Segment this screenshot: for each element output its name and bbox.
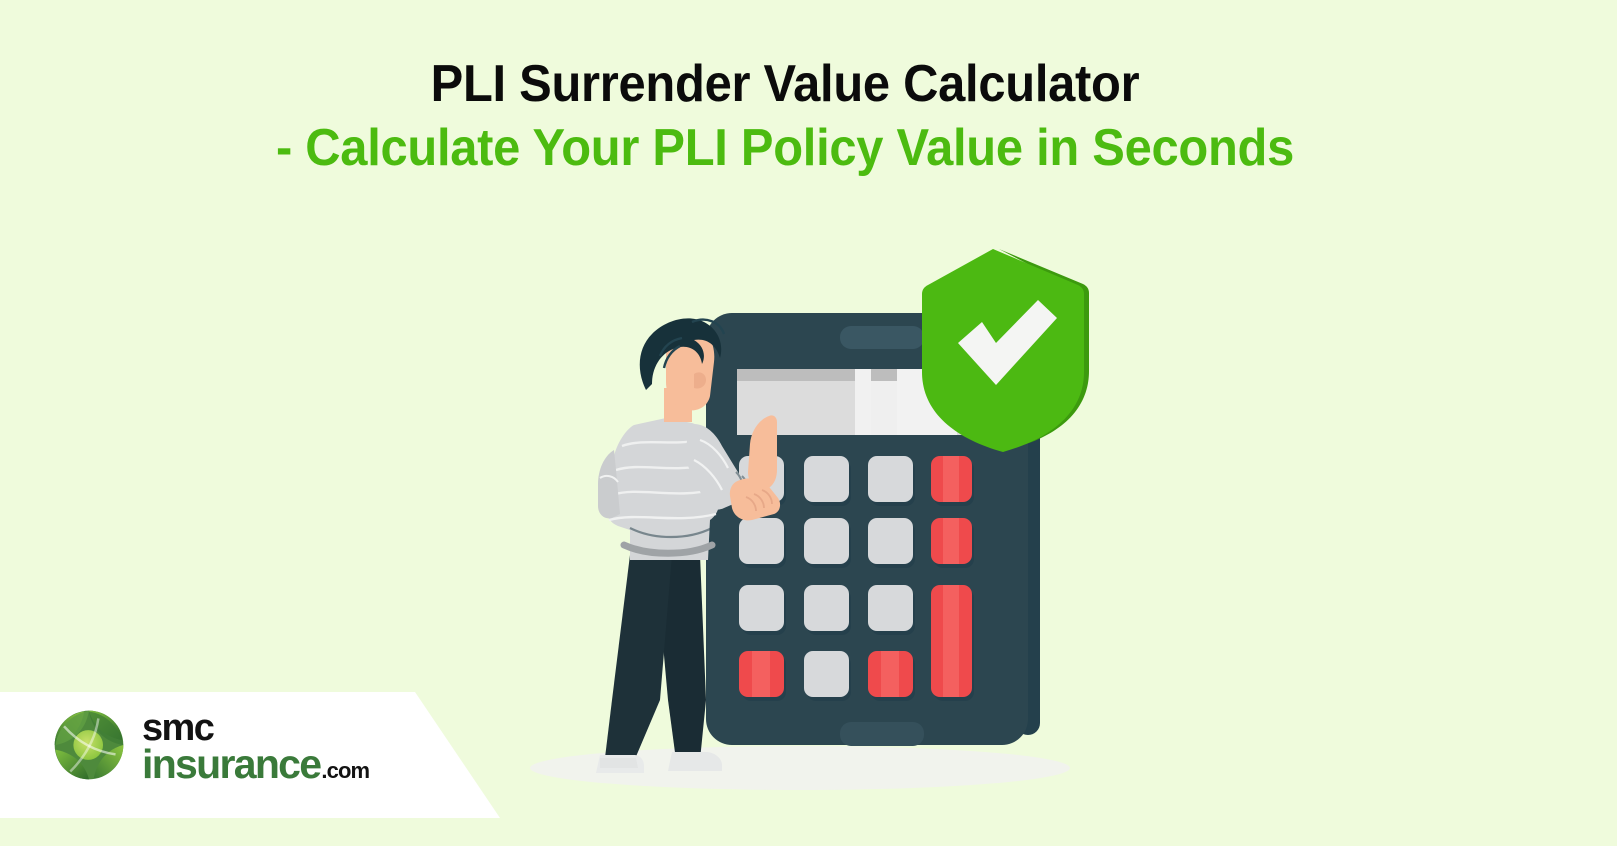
calculator-key (804, 456, 849, 502)
headline-primary: PLI Surrender Value Calculator (47, 58, 1523, 110)
person-pointing-finger (748, 415, 777, 490)
calculator-key-accent (931, 518, 972, 564)
logo-wordmark: smc insurance .com (142, 708, 369, 782)
floor-shadow (530, 746, 1070, 790)
calculator-key-accent (931, 456, 972, 502)
calculator-bottom-notch (840, 722, 924, 746)
person-ear (694, 372, 706, 388)
calculator-body (706, 313, 1028, 745)
calculator-key-accent (739, 651, 784, 697)
calculator-key (739, 518, 784, 564)
calculator-key-accent (868, 651, 913, 697)
calculator-key (868, 518, 913, 564)
logo-dotcom-text: .com (321, 761, 369, 780)
logo-insurance-text: insurance (142, 746, 320, 782)
logo-lockup[interactable]: smc insurance .com (50, 706, 369, 784)
calculator-key (804, 651, 849, 697)
calculator-top-notch (840, 326, 924, 349)
calculator-illustration (706, 313, 1040, 746)
person-neck (664, 388, 692, 422)
calculator-key (739, 456, 784, 502)
calculator-keypad (739, 456, 974, 701)
brand-logo-banner[interactable]: smc insurance .com (0, 692, 510, 818)
person-sweater-hem (624, 545, 712, 553)
person-shoe-front-detail (600, 758, 638, 768)
person-hair (640, 318, 721, 390)
calculator-key (804, 585, 849, 631)
calculator-display (737, 369, 990, 435)
person-leg-back (655, 555, 706, 760)
calculator-side-shadow (1016, 330, 1040, 735)
person-face (666, 328, 714, 411)
calculator-key (804, 518, 849, 564)
person-arm-raised (686, 424, 746, 510)
person-leg-front (604, 555, 672, 766)
calculator-key-equals-tall (931, 585, 972, 697)
shield-check-icon (922, 249, 1089, 452)
poster-canvas: PLI Surrender Value Calculator - Calcula… (0, 0, 1617, 846)
person-shoe-back (668, 752, 722, 771)
person-sweater (606, 418, 721, 560)
calculator-key (739, 585, 784, 631)
logo-second-line: insurance .com (142, 746, 369, 782)
smc-globe-swirl-icon (50, 706, 128, 784)
person-shoe-front (596, 755, 644, 773)
calculator-key (868, 585, 913, 631)
person-back-pointing-icon (596, 318, 780, 773)
page-title: PLI Surrender Value Calculator - Calcula… (0, 58, 1570, 174)
calculator-key (868, 456, 913, 502)
person-left-sleeve (598, 450, 620, 518)
person-hand (730, 478, 780, 520)
headline-secondary: - Calculate Your PLI Policy Value in Sec… (47, 122, 1523, 174)
